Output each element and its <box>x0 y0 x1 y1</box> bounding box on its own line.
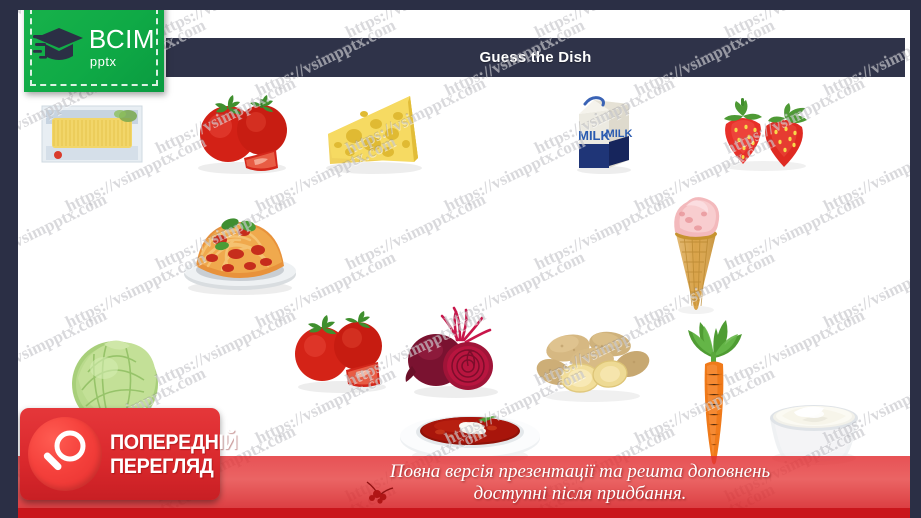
badge-text: ПОПЕРЕДНІЙ ПЕРЕГЛЯД <box>110 432 237 477</box>
food-item-tomatoes-bottom <box>284 308 400 394</box>
banner-bottom-strip <box>0 508 921 518</box>
logo-suffix: pptx <box>90 55 117 68</box>
preview-badge[interactable]: ПОПЕРЕДНІЙ ПЕРЕГЛЯД <box>20 408 220 500</box>
banner-message: Повна версія презентації та решта доповн… <box>250 458 910 508</box>
logo-name: ВСІМ <box>89 26 155 52</box>
top-border-strip <box>0 0 921 10</box>
banner-line-1: Повна версія презентації та решта доповн… <box>390 461 770 483</box>
food-item-ice-cream-cone <box>656 184 736 316</box>
food-item-beetroot <box>400 304 510 400</box>
food-item-potatoes <box>532 320 652 404</box>
presentation-slide: MILK MILK <box>0 0 921 518</box>
badge-line-2: ПЕРЕГЛЯД <box>110 456 237 477</box>
graduation-cap-icon <box>33 24 85 70</box>
slide-title-bar: Guess the Dish <box>166 38 905 77</box>
food-item-cheese-wedge <box>314 90 432 175</box>
badge-circle <box>28 417 102 491</box>
magnifier-icon <box>40 428 90 480</box>
food-item-spaghetti-dish <box>178 202 302 298</box>
food-item-strawberries <box>708 94 820 172</box>
banner-line-2: доступні після придбання. <box>474 483 687 505</box>
page-title: Guess the Dish <box>480 49 592 66</box>
vsimpptx-logo[interactable]: ВСІМ pptx <box>24 2 164 92</box>
food-item-tomatoes-top <box>184 90 300 175</box>
berry-decoration-icon <box>363 480 397 506</box>
left-border-strip <box>0 0 18 518</box>
badge-line-1: ПОПЕРЕДНІЙ <box>110 432 237 453</box>
food-item-spaghetti-package <box>40 98 144 166</box>
right-border-strip <box>910 0 921 518</box>
food-item-carrot <box>678 308 750 468</box>
food-item-milk-carton: MILK MILK <box>565 92 643 174</box>
svg-text:MILK: MILK <box>606 128 633 140</box>
